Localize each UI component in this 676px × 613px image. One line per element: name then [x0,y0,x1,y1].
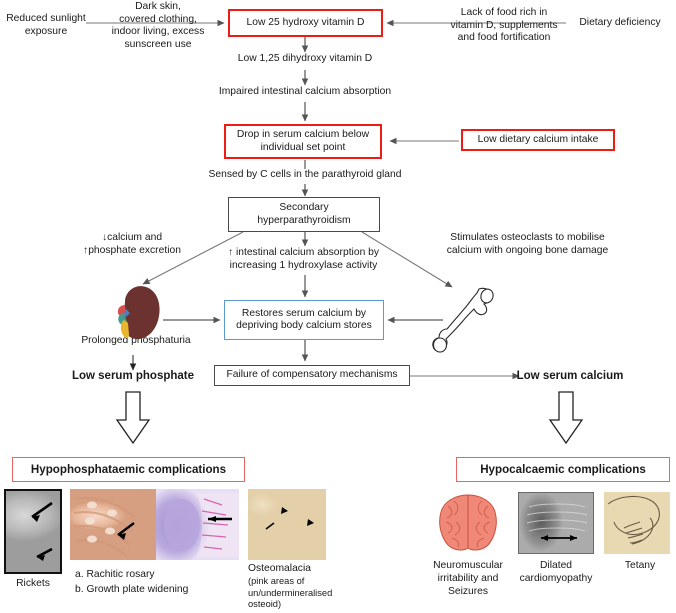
brain-illustration-thumbnail [434,492,502,554]
node-hypophosphataemic-complications: Hypophosphataemic complications [12,457,245,482]
node-failure-of-compensatory-mechanisms: Failure of compensatory mechanisms [214,365,410,386]
node-dark-skin-factors: Dark skin, covered clothing, indoor livi… [88,1,228,51]
node-dietary-deficiency: Dietary deficiency [564,17,676,30]
chest-xray-thumbnail [518,492,594,554]
caption-osteomalacia: Osteomalacia [248,563,338,576]
block-arrow-right [550,392,582,443]
node-failure-of-compensatory-mechanisms-label: Failure of compensatory mechanisms [226,369,397,381]
node-intestinal-calcium-absorption: ↑ intestinal calcium absorption by incre… [196,247,411,272]
node-impaired-intestinal-calcium-absorption: Impaired intestinal calcium absorption [190,86,420,99]
caption-tetany: Tetany [610,560,670,573]
node-low-125-dihydroxy-vitamin-d: Low 1,25 dihydroxy vitamin D [205,53,405,66]
osteomalacia-histology-thumbnail [248,489,326,560]
caption-rickets: Rickets [0,578,66,591]
node-hypocalcaemic-complications: Hypocalcaemic complications [456,457,670,482]
node-drop-in-serum-calcium-label: Drop in serum calcium below individual s… [237,129,369,154]
node-low-25-hydroxy-vitamin-d-label: Low 25 hydroxy vitamin D [247,17,365,29]
rickets-xray-thumbnail [4,489,62,574]
caption-dilated-cardiomyopathy: Dilated cardiomyopathy [508,560,604,586]
node-low-serum-phosphate: Low serum phosphate [58,369,208,383]
caption-osteomalacia-sub: (pink areas of un/undermineralised osteo… [248,576,344,611]
rachitic-rosary-photo-thumbnail [70,489,156,560]
node-restores-serum-calcium-label: Restores serum calcium by depriving body… [236,308,372,333]
node-sensed-by-c-cells: Sensed by C cells in the parathyroid gla… [180,169,430,182]
node-drop-in-serum-calcium: Drop in serum calcium below individual s… [224,124,382,159]
growth-plate-histology-thumbnail [156,489,239,560]
node-low-dietary-calcium-intake: Low dietary calcium intake [461,129,615,151]
caption-neuromuscular-irritability: Neuromuscular irritability and Seizures [420,560,516,599]
node-hypophosphataemic-complications-label: Hypophosphataemic complications [31,463,226,477]
tetany-hand-illustration-thumbnail [604,492,670,554]
kidney-illustration [106,283,168,345]
node-calcium-phosphate-excretion: ↓calcium and ↑phosphate excretion [62,232,202,257]
node-low-dietary-calcium-intake-label: Low dietary calcium intake [478,134,599,146]
node-restores-serum-calcium: Restores serum calcium by depriving body… [224,300,384,340]
node-stimulates-osteoclasts: Stimulates osteoclasts to mobilise calci… [420,232,635,257]
block-arrow-left [117,392,149,443]
node-low-serum-calcium: Low serum calcium [500,369,640,383]
node-reduced-sunlight-exposure: Reduced sunlight exposure [0,13,92,38]
node-hypocalcaemic-complications-label: Hypocalcaemic complications [480,463,646,477]
node-lack-of-food: Lack of food rich in vitamin D, suppleme… [434,7,574,45]
node-secondary-hyperparathyroidism: Secondary hyperparathyroidism [228,197,380,232]
femur-bone-illustration [432,284,498,356]
node-secondary-hyperparathyroidism-label: Secondary hyperparathyroidism [257,202,350,227]
caption-rachitic-rosary-growth-plate: a. Rachitic rosary b. Growth plate widen… [75,567,255,598]
node-low-25-hydroxy-vitamin-d: Low 25 hydroxy vitamin D [228,9,383,37]
